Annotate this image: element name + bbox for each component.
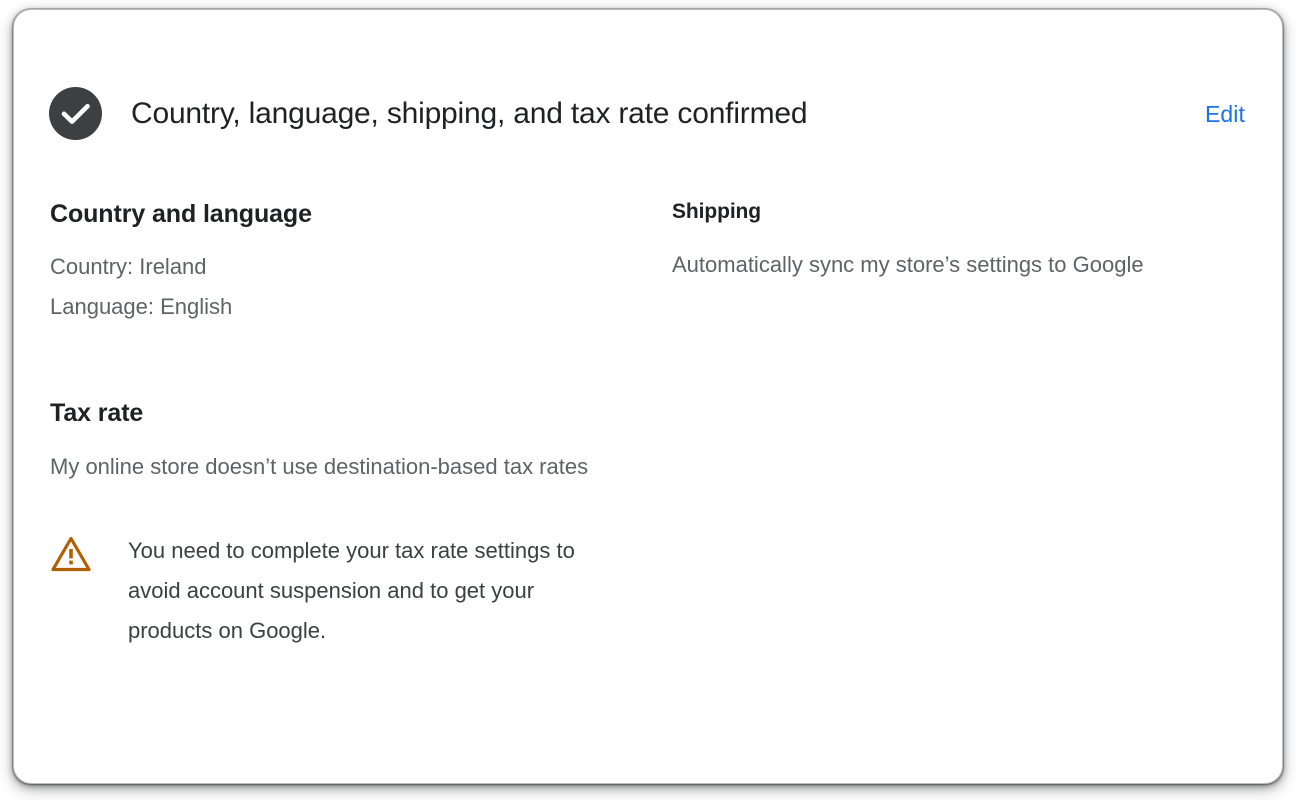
tax-rate-heading: Tax rate — [50, 397, 630, 429]
page-title: Country, language, shipping, and tax rat… — [131, 88, 807, 140]
section-spacer — [50, 327, 630, 397]
edit-link[interactable]: Edit — [1205, 90, 1245, 138]
country-language-section: Country and language Country: Ireland La… — [50, 198, 630, 327]
warning-message: You need to complete your tax rate setti… — [128, 531, 618, 651]
tax-rate-body: My online store doesn’t use destination-… — [50, 446, 590, 487]
tax-rate-warning: You need to complete your tax rate setti… — [50, 531, 630, 651]
screen-root: Country, language, shipping, and tax rat… — [0, 0, 1296, 800]
card-header: Country, language, shipping, and tax rat… — [14, 10, 1282, 200]
setup-summary-card: Country, language, shipping, and tax rat… — [13, 9, 1283, 784]
warning-triangle-icon — [50, 533, 92, 575]
shipping-body: Automatically sync my store’s settings t… — [672, 244, 1212, 285]
shipping-heading: Shipping — [672, 198, 1242, 226]
country-language-heading: Country and language — [50, 198, 630, 230]
shipping-section: Shipping Automatically sync my store’s s… — [672, 198, 1242, 285]
tax-rate-section: Tax rate My online store doesn’t use des… — [50, 397, 630, 651]
right-column: Shipping Automatically sync my store’s s… — [672, 198, 1242, 285]
left-column: Country and language Country: Ireland La… — [50, 198, 630, 651]
country-value: Country: Ireland — [50, 247, 630, 287]
check-circle-icon — [49, 87, 102, 140]
language-value: Language: English — [50, 287, 630, 327]
